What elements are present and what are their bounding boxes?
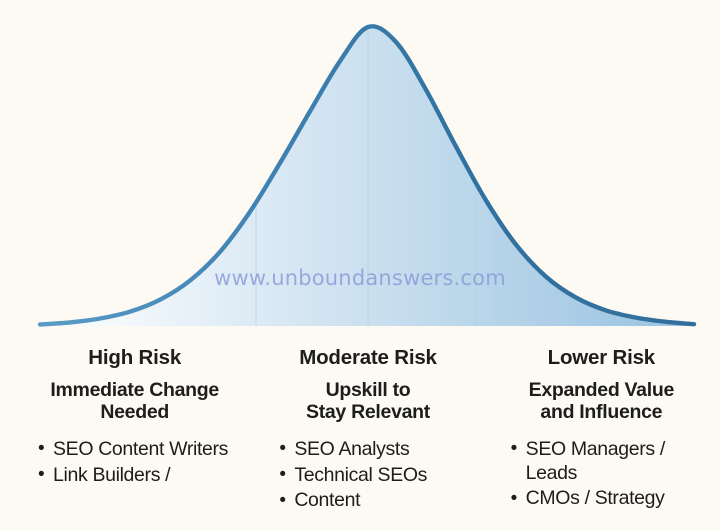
risk-subtitle-high: Immediate Change Needed [24,379,245,424]
list-item: •Link Builders / [38,464,245,488]
list-item: •SEO Managers / Leads [511,438,712,486]
risk-column-high: High Risk Immediate Change Needed •SEO C… [0,336,247,489]
list-item: •SEO Content Writers [38,438,245,462]
list-item-label: SEO Managers / Leads [526,438,665,484]
bullet-icon: • [38,463,44,486]
risk-list-lower: •SEO Managers / Leads •CMOs / Strategy [491,438,712,511]
bell-curve-fill [40,26,694,326]
bullet-icon: • [511,487,517,510]
bell-curve-svg [0,0,720,336]
risk-subtitle-lower: Expanded Value and Influence [491,379,712,424]
list-item-label: CMOs / Strategy [526,487,665,509]
risk-columns: High Risk Immediate Change Needed •SEO C… [0,336,720,530]
risk-list-high: •SEO Content Writers •Link Builders / [24,438,245,488]
bullet-icon: • [38,437,44,460]
list-item-label: SEO Content Writers [53,438,228,460]
bullet-icon: • [279,489,285,512]
bullet-icon: • [511,437,517,460]
list-item-label: SEO Analysts [294,438,409,460]
list-item-label: Technical SEOs [294,464,427,486]
risk-column-moderate: Moderate Risk Upskill to Stay Relevant •… [247,336,486,515]
risk-subtitle-moderate: Upskill to Stay Relevant [257,379,478,424]
risk-label-moderate: Moderate Risk [257,347,478,370]
list-item: •Technical SEOs [279,464,478,488]
risk-label-lower: Lower Risk [491,347,712,370]
bell-curve-chart: www.unboundanswers.com [0,0,720,336]
list-item-label: Content [294,489,360,511]
bullet-icon: • [279,437,285,460]
bullet-icon: • [279,463,285,486]
risk-column-lower: Lower Risk Expanded Value and Influence … [487,336,720,513]
risk-label-high: High Risk [24,347,245,370]
risk-list-moderate: •SEO Analysts •Technical SEOs •Content [257,438,478,513]
list-item: •SEO Analysts [279,438,478,462]
list-item-label: Link Builders / [53,464,170,486]
bell-curve-infographic: www.unboundanswers.com High Risk Immedia… [0,0,720,530]
list-item: •Content [279,489,478,513]
list-item: •CMOs / Strategy [511,487,712,511]
